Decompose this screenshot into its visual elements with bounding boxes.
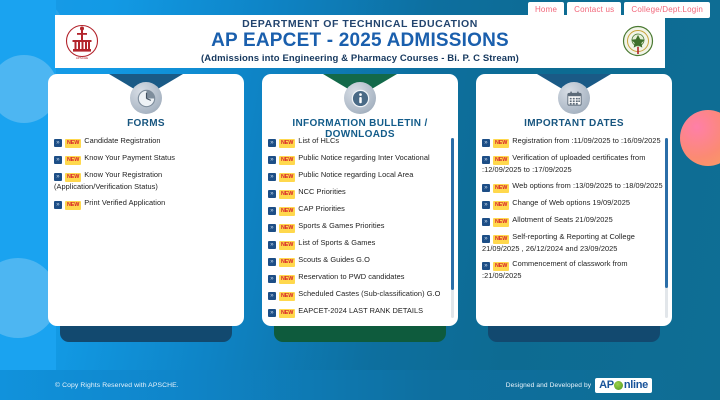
list-item-label: Reservation to PWD candidates bbox=[298, 272, 404, 281]
list-item-label: Print Verified Application bbox=[84, 198, 165, 207]
chevron-right-icon: » bbox=[268, 156, 276, 164]
list-item-label: Know Your Payment Status bbox=[84, 153, 175, 162]
site-header-banner: APSCHE DEPARTMENT OF TECHNICAL EDUCATION… bbox=[55, 15, 665, 68]
new-badge: NEW bbox=[279, 207, 295, 216]
top-navigation: Home Contact us College/Dept.Login bbox=[528, 2, 710, 18]
important-dates-list: »NEWRegistration from :11/09/2025 to :16… bbox=[482, 136, 664, 282]
chevron-right-icon: » bbox=[54, 201, 62, 209]
pie-chart-clock-icon bbox=[130, 82, 162, 114]
list-item-label: Registration from :11/09/2025 to :16/09/… bbox=[512, 136, 660, 145]
list-item[interactable]: »NEWList of HLCs bbox=[268, 136, 450, 148]
chevron-right-icon: » bbox=[54, 173, 62, 181]
new-badge: NEW bbox=[279, 139, 295, 148]
new-badge: NEW bbox=[279, 190, 295, 199]
list-item-label: Allotment of Seats 21/09/2025 bbox=[512, 215, 612, 224]
header-title-block: DEPARTMENT OF TECHNICAL EDUCATION AP EAP… bbox=[109, 19, 611, 64]
chevron-right-icon: » bbox=[482, 201, 490, 209]
card-important-dates: IMPORTANT DATES »NEWRegistration from :1… bbox=[476, 74, 672, 326]
new-badge: NEW bbox=[279, 258, 295, 267]
andhra-pradesh-government-emblem bbox=[611, 23, 665, 61]
card-information-bulletin-panel: INFORMATION BULLETIN / DOWNLOADS »NEWLis… bbox=[262, 74, 458, 326]
apsche-emblem-logo: APSCHE bbox=[55, 22, 109, 62]
list-item[interactable]: »NEWKnow Your Registration (Application/… bbox=[54, 170, 236, 193]
chevron-right-icon: » bbox=[268, 275, 276, 283]
header-subtitle: (Admissions into Engineering & Pharmacy … bbox=[111, 54, 609, 64]
aponline-o-glyph bbox=[614, 381, 623, 390]
list-item-label: Sports & Games Priorities bbox=[298, 221, 384, 230]
card-forms-panel: FORMS »NEWCandidate Registration »NEWKno… bbox=[48, 74, 244, 326]
header-department-line: DEPARTMENT OF TECHNICAL EDUCATION bbox=[111, 19, 609, 30]
calendar-icon bbox=[558, 82, 590, 114]
new-badge: NEW bbox=[65, 139, 81, 148]
list-item[interactable]: »NEWRegistration from :11/09/2025 to :16… bbox=[482, 136, 664, 148]
svg-text:APSCHE: APSCHE bbox=[76, 56, 88, 60]
information-bulletin-list: »NEWList of HLCs »NEWPublic Notice regar… bbox=[268, 136, 450, 318]
chevron-right-icon: » bbox=[54, 156, 62, 164]
new-badge: NEW bbox=[279, 292, 295, 301]
aponline-suffix: nline bbox=[624, 380, 648, 391]
list-item[interactable]: »NEWWeb options from :13/09/2025 to :18/… bbox=[482, 181, 664, 193]
forms-list: »NEWCandidate Registration »NEWKnow Your… bbox=[54, 136, 236, 210]
new-badge: NEW bbox=[493, 218, 509, 227]
chevron-right-icon: » bbox=[482, 156, 490, 164]
list-item-label: List of HLCs bbox=[298, 136, 339, 145]
new-badge: NEW bbox=[493, 184, 509, 193]
list-item[interactable]: »NEWPublic Notice regarding Inter Vocati… bbox=[268, 153, 450, 165]
list-item-label: List of Sports & Games bbox=[298, 238, 375, 247]
new-badge: NEW bbox=[493, 262, 509, 271]
card-title-forms: FORMS bbox=[48, 118, 244, 129]
developed-by-label: Designed and Developed by bbox=[506, 382, 591, 389]
list-item[interactable]: »NEWPublic Notice regarding Local Area bbox=[268, 170, 450, 182]
new-badge: NEW bbox=[493, 235, 509, 244]
chevron-right-icon: » bbox=[268, 258, 276, 266]
list-item[interactable]: »NEWCandidate Registration bbox=[54, 136, 236, 148]
card-body-information-bulletin: »NEWList of HLCs »NEWPublic Notice regar… bbox=[262, 136, 458, 322]
chevron-right-icon: » bbox=[268, 190, 276, 198]
new-badge: NEW bbox=[279, 309, 295, 318]
chevron-right-icon: » bbox=[482, 262, 490, 270]
new-badge: NEW bbox=[65, 156, 81, 165]
new-badge: NEW bbox=[279, 241, 295, 250]
list-item[interactable]: »NEWCAP Priorities bbox=[268, 204, 450, 216]
footer-credit: Designed and Developed by APnline bbox=[506, 378, 652, 393]
list-item[interactable]: »NEWScheduled Castes (Sub-classification… bbox=[268, 289, 450, 301]
page-root: Home Contact us College/Dept.Login APSCH… bbox=[0, 0, 720, 400]
card-row: FORMS »NEWCandidate Registration »NEWKno… bbox=[0, 74, 720, 326]
card-forms: FORMS »NEWCandidate Registration »NEWKno… bbox=[48, 74, 244, 326]
scrollbar-thumb[interactable] bbox=[451, 138, 454, 290]
list-item[interactable]: »NEWSelf-reporting & Reporting at Colleg… bbox=[482, 232, 664, 255]
chevron-right-icon: » bbox=[268, 241, 276, 249]
new-badge: NEW bbox=[493, 201, 509, 210]
copyright-text: © Copy Rights Reserved with APSCHE. bbox=[55, 382, 179, 389]
new-badge: NEW bbox=[493, 156, 509, 165]
new-badge: NEW bbox=[279, 224, 295, 233]
chevron-right-icon: » bbox=[482, 184, 490, 192]
list-item-label: Scouts & Guides G.O bbox=[298, 255, 370, 264]
list-item[interactable]: »NEWNCC Priorities bbox=[268, 187, 450, 199]
page-title: AP EAPCET - 2025 ADMISSIONS bbox=[111, 31, 609, 52]
list-item-label: CAP Priorities bbox=[298, 204, 345, 213]
chevron-right-icon: » bbox=[54, 139, 62, 147]
nav-contact-us-button[interactable]: Contact us bbox=[567, 2, 621, 18]
list-item-label: Scheduled Castes (Sub-classification) G.… bbox=[298, 289, 440, 298]
list-item[interactable]: »NEWKnow Your Payment Status bbox=[54, 153, 236, 165]
list-item-label: Public Notice regarding Inter Vocational bbox=[298, 153, 429, 162]
new-badge: NEW bbox=[279, 173, 295, 182]
chevron-right-icon: » bbox=[268, 139, 276, 147]
chevron-right-icon: » bbox=[268, 309, 276, 317]
list-item[interactable]: »NEWList of Sports & Games bbox=[268, 238, 450, 250]
chevron-right-icon: » bbox=[482, 235, 490, 243]
list-item[interactable]: »NEWSports & Games Priorities bbox=[268, 221, 450, 233]
information-icon bbox=[344, 82, 376, 114]
list-item-label: Candidate Registration bbox=[84, 136, 160, 145]
chevron-right-icon: » bbox=[268, 292, 276, 300]
list-item[interactable]: »NEWCommencement of classwork from :21/0… bbox=[482, 259, 664, 282]
new-badge: NEW bbox=[65, 201, 81, 210]
aponline-prefix: AP bbox=[599, 380, 614, 391]
list-item[interactable]: »NEWReservation to PWD candidates bbox=[268, 272, 450, 284]
list-item[interactable]: »NEWScouts & Guides G.O bbox=[268, 255, 450, 267]
list-item-label: Public Notice regarding Local Area bbox=[298, 170, 413, 179]
list-item[interactable]: »NEWChange of Web options 19/09/2025 bbox=[482, 198, 664, 210]
new-badge: NEW bbox=[493, 139, 509, 148]
card-body-forms: »NEWCandidate Registration »NEWKnow Your… bbox=[48, 136, 244, 322]
list-item-label: Web options from :13/09/2025 to :18/09/2… bbox=[512, 181, 662, 190]
list-item[interactable]: »NEWAllotment of Seats 21/09/2025 bbox=[482, 215, 664, 227]
scrollbar-thumb[interactable] bbox=[665, 138, 668, 288]
nav-college-dept-login-button[interactable]: College/Dept.Login bbox=[624, 2, 710, 18]
card-important-dates-panel: IMPORTANT DATES »NEWRegistration from :1… bbox=[476, 74, 672, 326]
page-footer: © Copy Rights Reserved with APSCHE. Desi… bbox=[0, 370, 720, 400]
list-item[interactable]: »NEWPrint Verified Application bbox=[54, 198, 236, 210]
list-item-label: NCC Priorities bbox=[298, 187, 346, 196]
chevron-right-icon: » bbox=[482, 218, 490, 226]
list-item-label: Change of Web options 19/09/2025 bbox=[512, 198, 630, 207]
new-badge: NEW bbox=[279, 156, 295, 165]
list-item[interactable]: »NEWVerification of uploaded certificate… bbox=[482, 153, 664, 176]
nav-home-button[interactable]: Home bbox=[528, 2, 564, 18]
chevron-right-icon: » bbox=[482, 139, 490, 147]
card-title-important-dates: IMPORTANT DATES bbox=[476, 118, 672, 129]
list-item[interactable]: »NEWEAPCET-2024 LAST RANK DETAILS bbox=[268, 306, 450, 318]
chevron-right-icon: » bbox=[268, 173, 276, 181]
aponline-logo[interactable]: APnline bbox=[595, 378, 652, 393]
card-information-bulletin: INFORMATION BULLETIN / DOWNLOADS »NEWLis… bbox=[262, 74, 458, 326]
list-item-label: EAPCET-2024 LAST RANK DETAILS bbox=[298, 306, 423, 315]
card-body-important-dates: »NEWRegistration from :11/09/2025 to :16… bbox=[476, 136, 672, 322]
new-badge: NEW bbox=[65, 173, 81, 182]
chevron-right-icon: » bbox=[268, 207, 276, 215]
chevron-right-icon: » bbox=[268, 224, 276, 232]
new-badge: NEW bbox=[279, 275, 295, 284]
